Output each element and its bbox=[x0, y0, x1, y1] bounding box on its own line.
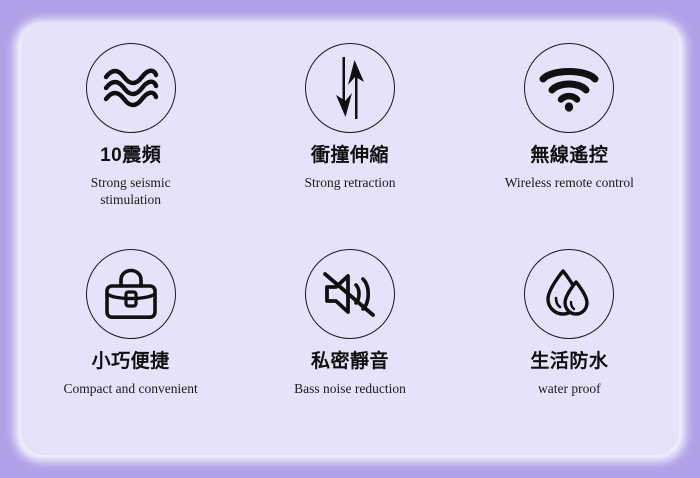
feature-item-wireless[interactable]: 無線遙控 Wireless remote control bbox=[460, 39, 679, 247]
handbag-icon bbox=[86, 249, 176, 339]
water-drops-icon bbox=[524, 249, 614, 339]
feature-subtitle: Strong retraction bbox=[304, 175, 395, 192]
feature-grid: 10震頻 Strong seismic stimulation 衝撞伸縮 Str… bbox=[21, 39, 679, 455]
feature-item-waterproof[interactable]: 生活防水 water proof bbox=[460, 247, 679, 455]
speaker-mute-icon bbox=[305, 249, 395, 339]
feature-subtitle: Compact and convenient bbox=[64, 381, 198, 398]
feature-title: 私密靜音 bbox=[311, 352, 389, 373]
feature-item-retraction[interactable]: 衝撞伸縮 Strong retraction bbox=[240, 39, 459, 247]
feature-title: 無線遙控 bbox=[530, 146, 608, 167]
feature-title: 生活防水 bbox=[530, 352, 608, 373]
feature-title: 10震頻 bbox=[100, 146, 161, 167]
wifi-icon bbox=[524, 43, 614, 133]
feature-item-quiet[interactable]: 私密靜音 Bass noise reduction bbox=[240, 247, 459, 455]
waves-icon bbox=[86, 43, 176, 133]
feature-subtitle: Strong seismic stimulation bbox=[61, 175, 201, 209]
feature-title: 衝撞伸縮 bbox=[311, 146, 389, 167]
feature-subtitle: Wireless remote control bbox=[505, 175, 634, 192]
up-down-arrows-icon bbox=[305, 43, 395, 133]
feature-subtitle: Bass noise reduction bbox=[294, 381, 406, 398]
feature-item-seismic[interactable]: 10震頻 Strong seismic stimulation bbox=[21, 39, 240, 247]
feature-subtitle: water proof bbox=[538, 381, 601, 398]
feature-card: 10震頻 Strong seismic stimulation 衝撞伸縮 Str… bbox=[21, 23, 679, 455]
feature-item-compact[interactable]: 小巧便捷 Compact and convenient bbox=[21, 247, 240, 455]
feature-panel: 10震頻 Strong seismic stimulation 衝撞伸縮 Str… bbox=[0, 0, 700, 478]
feature-title: 小巧便捷 bbox=[92, 352, 170, 373]
